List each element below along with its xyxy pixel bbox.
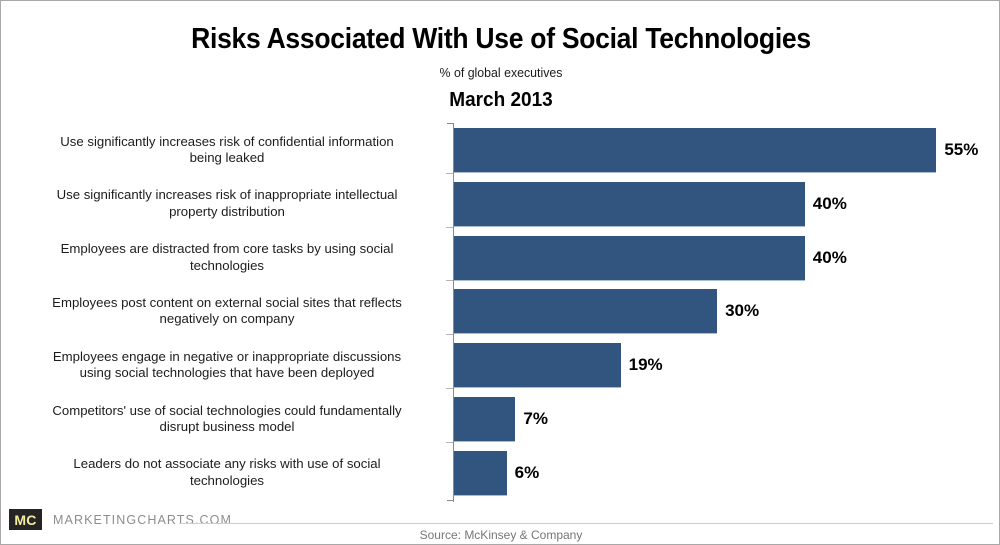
brand-name-label: MARKETINGCHARTS.COM bbox=[53, 513, 232, 527]
axis-tick bbox=[446, 280, 453, 281]
bar-category-label: Employees are distracted from core tasks… bbox=[15, 231, 439, 285]
bar-category-label: Competitors' use of social technologies … bbox=[15, 392, 439, 446]
bar-value-label: 40% bbox=[813, 182, 847, 226]
bar-chart-plot-area: Use significantly increases risk of conf… bbox=[1, 119, 1000, 501]
axis-tick bbox=[446, 173, 453, 174]
bar-category-label: Leaders do not associate any risks with … bbox=[15, 446, 439, 500]
marketingcharts-logo-icon: MC bbox=[9, 509, 42, 530]
chart-footer: MC MARKETINGCHARTS.COM Source: McKinsey … bbox=[1, 501, 1000, 545]
bar[interactable] bbox=[454, 343, 621, 388]
bar-value-label: 19% bbox=[629, 343, 663, 387]
bar[interactable] bbox=[454, 128, 936, 173]
axis-tick bbox=[446, 334, 453, 335]
bar-category-label: Use significantly increases risk of conf… bbox=[15, 123, 439, 177]
axis-tick bbox=[446, 227, 453, 228]
axis-tick bbox=[446, 388, 453, 389]
bar-row[interactable]: Employees post content on external socia… bbox=[1, 284, 1000, 338]
source-attribution: Source: McKinsey & Company bbox=[1, 528, 1000, 542]
bar[interactable] bbox=[454, 397, 515, 442]
bar[interactable] bbox=[454, 289, 717, 334]
chart-subtitle: % of global executives bbox=[26, 56, 976, 80]
page-title: Risks Associated With Use of Social Tech… bbox=[36, 1, 966, 56]
bar-row[interactable]: Use significantly increases risk of conf… bbox=[1, 123, 1000, 177]
marketingcharts-brand: MC MARKETINGCHARTS.COM bbox=[9, 509, 232, 530]
bar[interactable] bbox=[454, 451, 507, 496]
bar-category-label: Use significantly increases risk of inap… bbox=[15, 177, 439, 231]
bar-row[interactable]: Competitors' use of social technologies … bbox=[1, 392, 1000, 446]
bar-category-label: Employees post content on external socia… bbox=[15, 284, 439, 338]
footer-divider bbox=[179, 523, 993, 524]
bar[interactable] bbox=[454, 182, 805, 227]
bar[interactable] bbox=[454, 236, 805, 281]
axis-cap-top bbox=[447, 123, 454, 124]
bar-category-label: Employees engage in negative or inapprop… bbox=[15, 338, 439, 392]
bar-value-label: 7% bbox=[523, 397, 548, 441]
chart-period: March 2013 bbox=[26, 80, 976, 112]
bar-value-label: 55% bbox=[944, 128, 978, 172]
bar-row[interactable]: Use significantly increases risk of inap… bbox=[1, 177, 1000, 231]
bar-row[interactable]: Employees engage in negative or inapprop… bbox=[1, 338, 1000, 392]
bar-value-label: 40% bbox=[813, 236, 847, 280]
bar-row[interactable]: Leaders do not associate any risks with … bbox=[1, 446, 1000, 500]
bar-value-label: 6% bbox=[515, 451, 540, 495]
chart-header: Risks Associated With Use of Social Tech… bbox=[1, 1, 1000, 112]
axis-tick bbox=[446, 442, 453, 443]
chart-page: Risks Associated With Use of Social Tech… bbox=[0, 0, 1000, 545]
bar-value-label: 30% bbox=[725, 289, 759, 333]
bar-row[interactable]: Employees are distracted from core tasks… bbox=[1, 231, 1000, 285]
